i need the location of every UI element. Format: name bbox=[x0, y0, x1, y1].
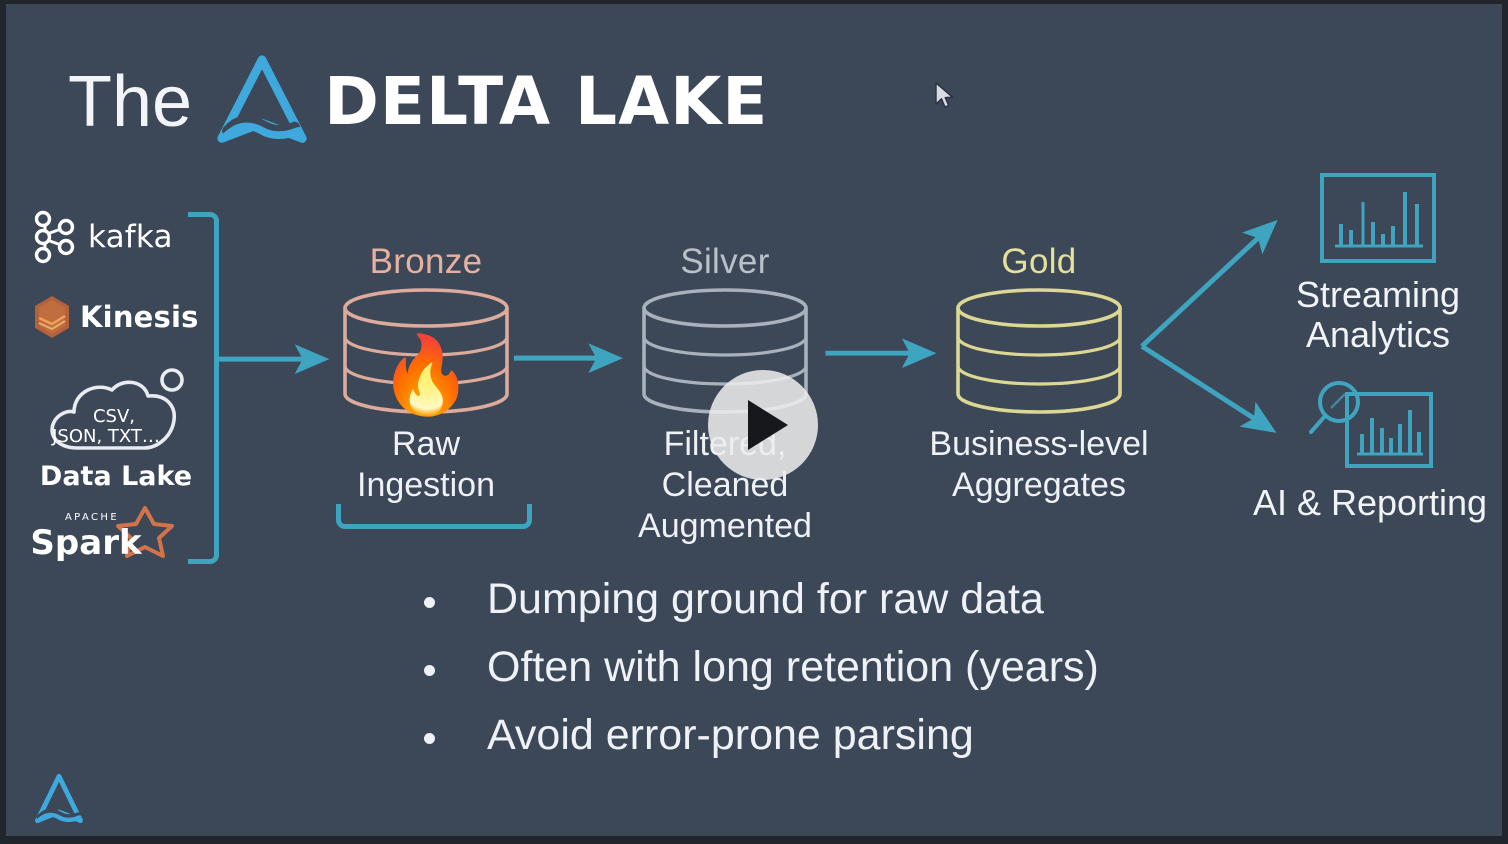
title-main: DELTA LAKE bbox=[324, 69, 768, 135]
stage-bronze: Bronze 🔥 Raw Ingestion bbox=[306, 242, 546, 506]
bar-chart-frame-icon bbox=[1319, 172, 1437, 264]
output-label-streaming-analytics: Streaming Analytics bbox=[1258, 275, 1498, 356]
magnifier-bar-chart-icon bbox=[1305, 376, 1435, 472]
list-item: Dumping ground for raw data bbox=[424, 566, 1184, 634]
output-ai-reporting: AI & Reporting bbox=[1232, 376, 1508, 523]
source-item-kinesis: Kinesis bbox=[32, 280, 202, 354]
bullet-dot-icon bbox=[424, 665, 435, 676]
cloud-text-line2: JSON, TXT… bbox=[51, 426, 160, 447]
bullet-list: Dumping ground for raw data Often with l… bbox=[424, 566, 1184, 770]
bullet-dot-icon bbox=[424, 597, 435, 608]
source-label-spark: Spark bbox=[32, 523, 143, 563]
sources-bracket bbox=[188, 212, 219, 564]
mouse-pointer-icon bbox=[934, 82, 956, 110]
source-item-kafka: kafka bbox=[32, 200, 202, 274]
bullet-dot-icon bbox=[424, 733, 435, 744]
source-item-spark: APACHE Spark bbox=[32, 500, 202, 574]
kinesis-hexagon-icon bbox=[32, 294, 72, 340]
source-item-data-lake: CSV, JSON, TXT… Data Lake bbox=[32, 364, 200, 492]
output-streaming-analytics: Streaming Analytics bbox=[1258, 172, 1498, 356]
play-button[interactable] bbox=[708, 370, 818, 480]
source-label-data-lake: Data Lake bbox=[32, 461, 200, 492]
bullet-text: Avoid error-prone parsing bbox=[487, 702, 974, 770]
delta-lake-logo-icon bbox=[214, 54, 310, 150]
cloud-icon: CSV, JSON, TXT… bbox=[40, 364, 192, 460]
output-label-ai-reporting: AI & Reporting bbox=[1232, 483, 1508, 523]
cloud-text-line1: CSV, bbox=[93, 406, 135, 427]
source-list: kafka Kinesis CSV, JSON, TXT… Da bbox=[32, 200, 202, 574]
stage-title-gold: Gold bbox=[914, 242, 1164, 282]
stage-title-silver: Silver bbox=[602, 242, 848, 282]
stage-desc-gold: Business-level Aggregates bbox=[914, 424, 1164, 506]
delta-lake-mark-icon bbox=[32, 770, 86, 828]
source-label-kafka: kafka bbox=[88, 219, 173, 255]
stage-desc-bronze: Raw Ingestion bbox=[306, 424, 546, 506]
apache-spark-icon: APACHE Spark bbox=[32, 504, 182, 570]
play-triangle-icon bbox=[748, 400, 788, 450]
list-item: Avoid error-prone parsing bbox=[424, 702, 1184, 770]
spark-sublabel: APACHE bbox=[65, 512, 119, 523]
cylinder-bronze bbox=[336, 286, 516, 418]
cylinder-gold bbox=[949, 286, 1129, 418]
title-prefix: The bbox=[68, 66, 192, 138]
bullet-text: Often with long retention (years) bbox=[487, 634, 1099, 702]
bullet-text: Dumping ground for raw data bbox=[487, 566, 1044, 634]
video-player[interactable]: The DELTA LAKE bbox=[0, 0, 1508, 844]
stage-gold: Gold Business-level Aggregates bbox=[914, 242, 1164, 506]
kafka-nodes-icon bbox=[32, 210, 80, 264]
source-label-kinesis: Kinesis bbox=[80, 300, 199, 334]
list-item: Often with long retention (years) bbox=[424, 634, 1184, 702]
raw-ingestion-bracket bbox=[336, 504, 532, 529]
slide-title: The DELTA LAKE bbox=[68, 50, 768, 154]
stage-title-bronze: Bronze bbox=[306, 242, 546, 282]
